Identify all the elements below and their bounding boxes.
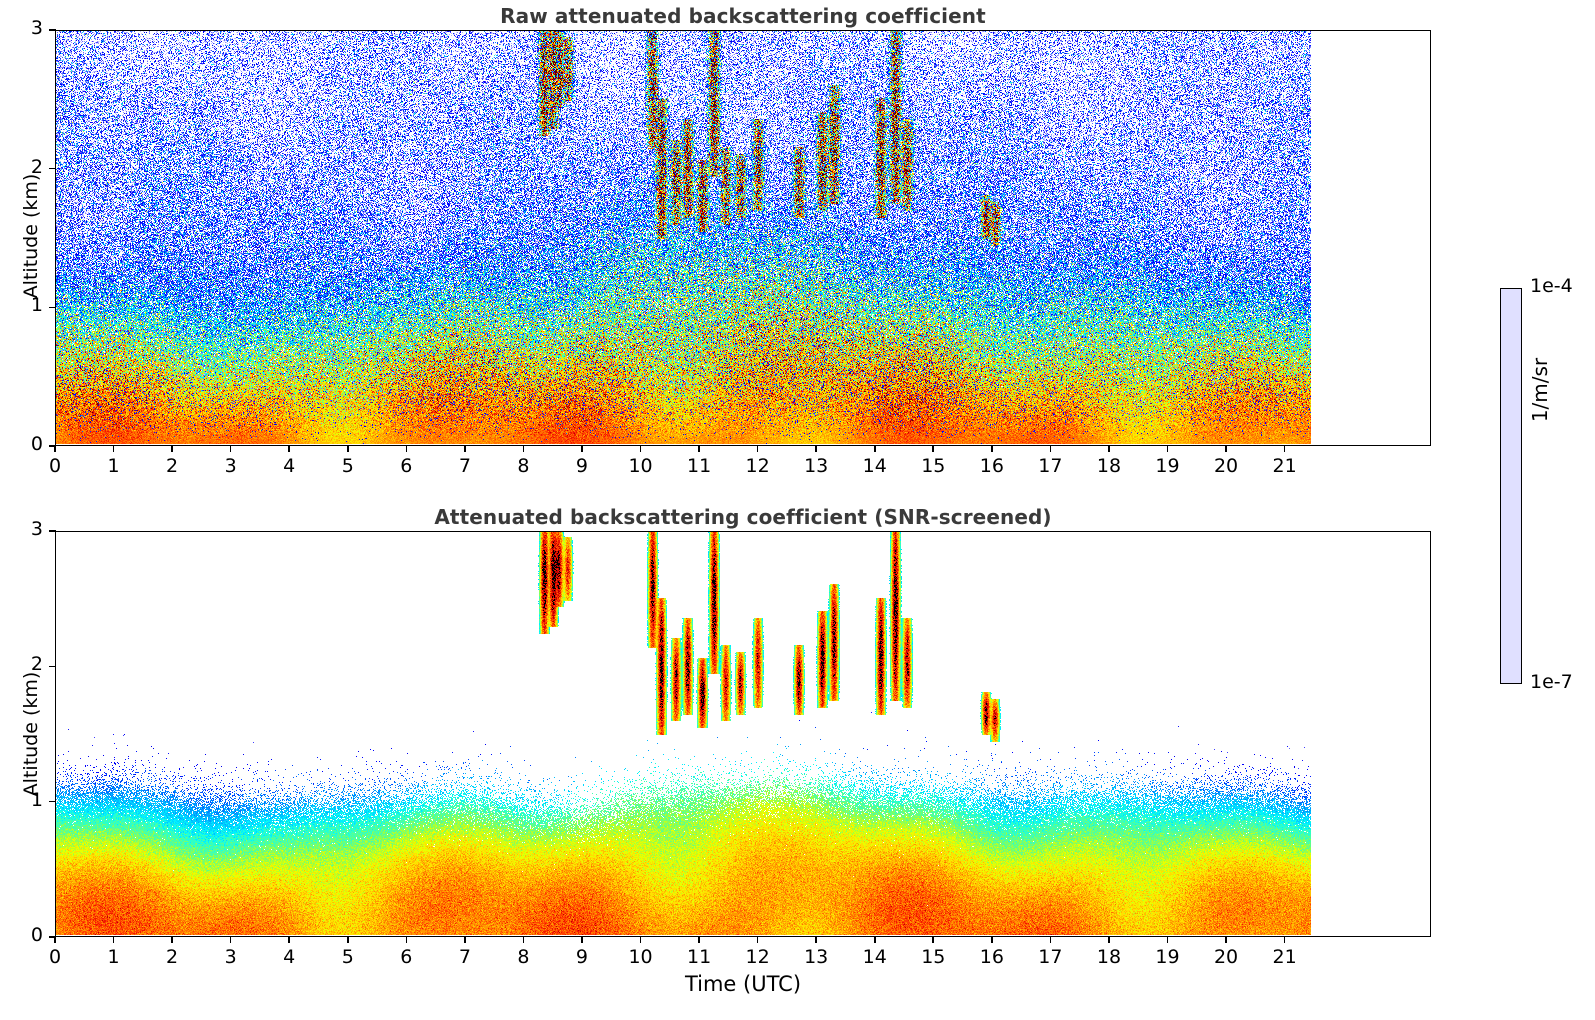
x-tick-label: 13	[786, 946, 846, 968]
x-tick	[932, 936, 934, 943]
x-tick-label: 16	[962, 946, 1022, 968]
y-tick	[49, 530, 56, 532]
x-tick	[464, 445, 466, 452]
x-tick	[874, 936, 876, 943]
x-tick	[347, 936, 349, 943]
x-tick-label: 21	[1255, 946, 1315, 968]
x-tick	[523, 936, 525, 943]
x-tick-label: 3	[201, 946, 261, 968]
x-tick	[113, 445, 115, 452]
x-tick	[1284, 445, 1286, 452]
y-tick-label: 1	[3, 789, 43, 811]
x-tick-label: 3	[201, 455, 261, 477]
x-tick	[815, 445, 817, 452]
x-tick	[1225, 445, 1227, 452]
x-tick-label: 5	[318, 946, 378, 968]
colorbar-label: 1/m/sr	[1528, 310, 1552, 470]
x-tick-label: 4	[259, 455, 319, 477]
x-tick-label: 19	[1138, 946, 1198, 968]
x-tick-label: 7	[435, 455, 495, 477]
x-tick	[288, 936, 290, 943]
x-tick-label: 12	[728, 455, 788, 477]
x-tick-label: 6	[376, 455, 436, 477]
x-tick	[523, 445, 525, 452]
heatmap-snr	[56, 532, 1311, 936]
y-tick	[49, 801, 56, 803]
x-tick	[991, 936, 993, 943]
x-tick	[581, 936, 583, 943]
x-tick	[640, 445, 642, 452]
y-tick-label: 3	[3, 518, 43, 540]
x-tick-label: 17	[1020, 455, 1080, 477]
x-tick-label: 15	[903, 946, 963, 968]
plot-axes-snr	[55, 531, 1431, 937]
y-tick-label: 3	[3, 17, 43, 39]
heatmap-raw	[56, 31, 1311, 445]
colorbar-tick-min: 1e-7	[1530, 671, 1573, 693]
colorbar: 1e-4 1e-7	[1500, 288, 1522, 684]
x-tick-label: 14	[845, 455, 905, 477]
y-tick	[49, 936, 56, 938]
x-tick-label: 20	[1196, 946, 1256, 968]
x-tick-label: 8	[493, 455, 553, 477]
x-tick-label: 0	[25, 455, 85, 477]
x-tick	[640, 936, 642, 943]
x-tick-label: 13	[786, 455, 846, 477]
y-tick	[49, 29, 56, 31]
y-tick-label: 2	[3, 653, 43, 675]
colorbar-tick-max: 1e-4	[1530, 275, 1573, 297]
y-tick-label: 1	[3, 294, 43, 316]
x-tick	[406, 936, 408, 943]
x-tick	[230, 445, 232, 452]
x-tick-label: 21	[1255, 455, 1315, 477]
x-tick	[581, 445, 583, 452]
x-tick	[757, 936, 759, 943]
x-tick	[932, 445, 934, 452]
y-tick-label: 2	[3, 156, 43, 178]
x-tick-label: 12	[728, 946, 788, 968]
x-tick-label: 9	[552, 455, 612, 477]
x-tick-label: 4	[259, 946, 319, 968]
x-tick-label: 10	[611, 946, 671, 968]
y-tick	[49, 666, 56, 668]
x-tick	[171, 445, 173, 452]
x-tick-label: 15	[903, 455, 963, 477]
x-axis-label: Time (UTC)	[55, 972, 1431, 996]
x-tick-label: 7	[435, 946, 495, 968]
x-tick-label: 11	[669, 455, 729, 477]
x-tick	[698, 445, 700, 452]
x-tick-label: 17	[1020, 946, 1080, 968]
y-tick	[49, 168, 56, 170]
x-tick	[1050, 936, 1052, 943]
x-tick-label: 0	[25, 946, 85, 968]
x-tick-label: 18	[1079, 946, 1139, 968]
x-tick	[347, 445, 349, 452]
x-tick-label: 6	[376, 946, 436, 968]
x-tick	[230, 936, 232, 943]
y-tick	[49, 307, 56, 309]
x-tick	[1167, 445, 1169, 452]
panel-title-snr: Attenuated backscattering coefficient (S…	[55, 505, 1431, 529]
x-tick	[1284, 936, 1286, 943]
x-tick-label: 2	[142, 455, 202, 477]
x-tick-label: 11	[669, 946, 729, 968]
x-tick	[113, 936, 115, 943]
x-tick	[1225, 936, 1227, 943]
x-tick	[1167, 936, 1169, 943]
x-tick-label: 8	[493, 946, 553, 968]
y-tick-label: 0	[3, 433, 43, 455]
panel-title-raw: Raw attenuated backscattering coefficien…	[55, 4, 1431, 28]
x-tick	[815, 936, 817, 943]
colorbar-gradient	[1500, 288, 1522, 684]
x-tick-label: 14	[845, 946, 905, 968]
x-tick-label: 9	[552, 946, 612, 968]
x-tick-label: 18	[1079, 455, 1139, 477]
plot-axes-raw	[55, 30, 1431, 446]
x-tick	[757, 445, 759, 452]
x-tick	[171, 936, 173, 943]
x-tick	[698, 936, 700, 943]
x-tick	[288, 445, 290, 452]
x-tick	[991, 445, 993, 452]
x-tick	[1108, 445, 1110, 452]
x-tick	[1108, 936, 1110, 943]
y-tick	[49, 445, 56, 447]
x-tick-label: 16	[962, 455, 1022, 477]
x-tick-label: 10	[611, 455, 671, 477]
x-tick	[406, 445, 408, 452]
x-tick	[1050, 445, 1052, 452]
x-tick-label: 1	[84, 946, 144, 968]
lidar-backscatter-figure: Raw attenuated backscattering coefficien…	[0, 0, 1595, 1020]
x-tick	[464, 936, 466, 943]
x-tick-label: 2	[142, 946, 202, 968]
x-tick	[874, 445, 876, 452]
x-tick-label: 19	[1138, 455, 1198, 477]
x-tick-label: 5	[318, 455, 378, 477]
y-tick-label: 0	[3, 924, 43, 946]
x-tick-label: 20	[1196, 455, 1256, 477]
x-tick-label: 1	[84, 455, 144, 477]
